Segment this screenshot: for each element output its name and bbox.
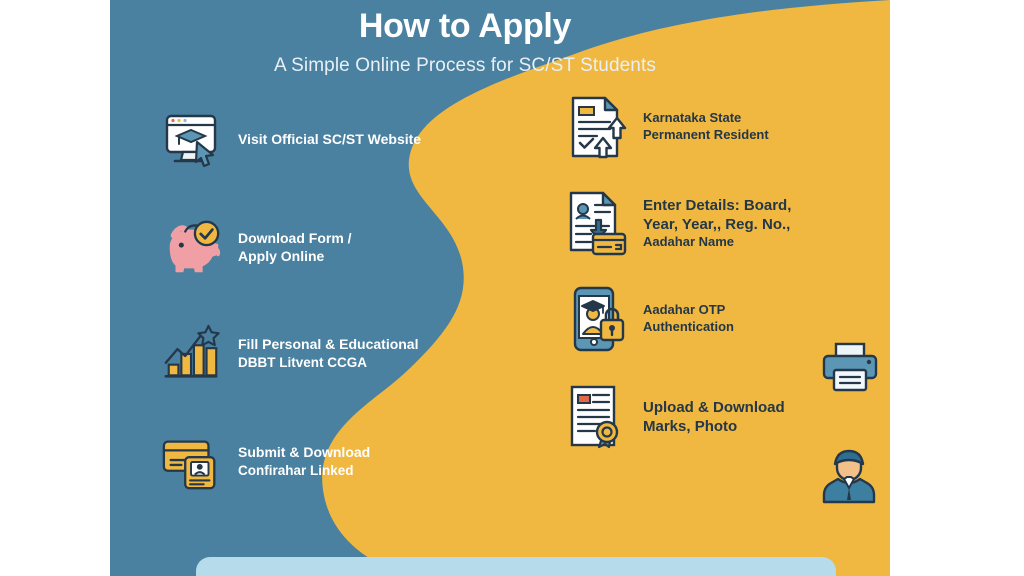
step-enter-details[interactable]: Enter Details: Board, Year, Year,, Reg. … (565, 191, 885, 255)
monitor-graduation-cap-cursor-icon (160, 108, 224, 172)
header-block: How to Apply A Simple Online Process for… (170, 0, 760, 77)
right-steps-column: Karnataka State Permanent Resident (565, 95, 885, 467)
page-title: How to Apply (170, 0, 760, 47)
document-upload-arrows-icon (565, 95, 629, 159)
step-line: Confirahar Linked (238, 462, 490, 479)
step-line: Karnataka State (643, 110, 885, 127)
step-visit-website[interactable]: Visit Official SC/ST Website (160, 108, 490, 172)
step-line: Aadahar OTP (643, 302, 885, 319)
step-line: Marks, Photo (643, 417, 885, 436)
step-line: Year, Year,, Reg. No., (643, 215, 885, 234)
step-text: Enter Details: Board, Year, Year,, Reg. … (643, 196, 885, 251)
step-text: Karnataka State Permanent Resident (643, 110, 885, 143)
infographic-canvas: How to Apply A Simple Online Process for… (0, 0, 1024, 576)
step-submit-download[interactable]: Submit & Download Confirahar Linked (160, 430, 490, 494)
step-text: Download Form / Apply Online (238, 230, 490, 266)
step-line: Submit & Download (238, 444, 490, 462)
step-text: Upload & Download Marks, Photo (643, 398, 885, 436)
left-steps-column: Visit Official SC/ST Website Download Fo… (160, 108, 490, 512)
person-avatar-icon (820, 448, 878, 509)
step-text: Fill Personal & Educational DBBT Litvent… (238, 336, 490, 371)
phone-student-lock-icon (565, 287, 629, 351)
step-line: Upload & Download (643, 398, 885, 417)
piggy-bank-check-icon (160, 216, 224, 280)
step-line: Visit Official SC/ST Website (238, 131, 490, 149)
step-line: DBBT Litvent CCGA (238, 354, 490, 371)
step-line: Download Form / (238, 230, 490, 248)
step-karnataka-resident[interactable]: Karnataka State Permanent Resident (565, 95, 885, 159)
profile-document-download-card-icon (565, 191, 629, 255)
step-download-form[interactable]: Download Form / Apply Online (160, 216, 490, 280)
step-text: Aadahar OTP Authentication (643, 302, 885, 335)
bar-chart-growth-star-icon (160, 322, 224, 386)
step-fill-details[interactable]: Fill Personal & Educational DBBT Litvent… (160, 322, 490, 386)
step-line: Enter Details: Board, (643, 196, 885, 215)
step-line: Aadahar Name (643, 234, 885, 251)
certificate-seal-icon (565, 385, 629, 449)
bottom-card (196, 557, 836, 576)
step-text: Visit Official SC/ST Website (238, 131, 490, 149)
step-text: Submit & Download Confirahar Linked (238, 444, 490, 479)
credit-card-id-card-icon (160, 430, 224, 494)
page-subtitle: A Simple Online Process for SC/ST Studen… (170, 47, 760, 77)
step-line: Permanent Resident (643, 127, 885, 144)
step-line: Fill Personal & Educational (238, 336, 490, 354)
step-line: Apply Online (238, 248, 490, 266)
step-line: Authentication (643, 319, 885, 336)
printer-icon (820, 342, 880, 399)
